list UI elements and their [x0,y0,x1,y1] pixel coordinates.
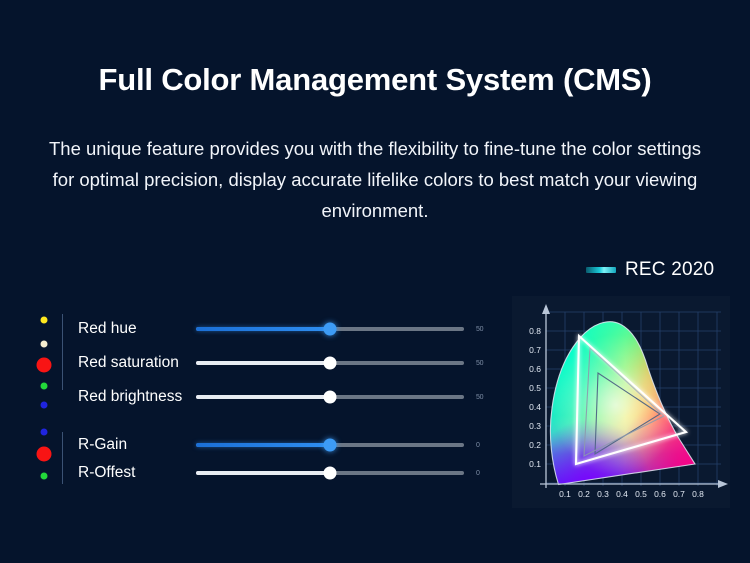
color-dot-rail [33,424,55,484]
slider-track-r-gain[interactable] [196,443,464,447]
svg-text:0.2: 0.2 [578,489,590,499]
svg-text:0.5: 0.5 [529,383,541,393]
slider-track-red-brightness[interactable] [196,395,464,399]
legend-swatch-icon [586,267,616,273]
slider-fill-red-brightness [196,395,330,399]
slider-thumb-r-offest[interactable] [324,467,337,480]
slider-row-red-brightness[interactable]: Red brightness 50 [62,385,505,409]
svg-text:0.4: 0.4 [529,402,541,412]
slider-row-red-saturation[interactable]: Red saturation 50 [62,351,505,375]
y-axis-arrow-icon [542,304,550,314]
green-dot [41,383,48,390]
svg-text:0.4: 0.4 [616,489,628,499]
color-settings-panel: Red hue 50 Red saturation 50 Red brightn… [0,306,505,496]
cream-dot [41,341,48,348]
slider-track-r-offest[interactable] [196,471,464,475]
svg-text:0.6: 0.6 [654,489,666,499]
slider-row-r-offest[interactable]: R-Offest 0 [62,461,505,485]
spectral-locus-fill [542,314,702,489]
slider-value-red-saturation: 50 [476,360,483,367]
slider-thumb-red-brightness[interactable] [324,391,337,404]
svg-text:0.3: 0.3 [597,489,609,499]
slider-fill-r-gain [196,443,330,447]
cie-chromaticity-diagram: 0.8 0.7 0.6 0.5 0.4 0.3 0.2 0.1 0.1 0.2 … [512,296,730,508]
color-dot-rail [33,306,55,398]
svg-text:0.2: 0.2 [529,440,541,450]
slider-label-red-saturation: Red saturation [78,354,179,372]
svg-text:0.8: 0.8 [529,326,541,336]
x-tick-labels: 0.1 0.2 0.3 0.4 0.5 0.6 0.7 0.8 [559,489,704,499]
slider-thumb-r-gain[interactable] [324,439,337,452]
slider-value-red-brightness: 50 [476,394,483,401]
svg-text:0.6: 0.6 [529,364,541,374]
slider-label-red-brightness: Red brightness [78,388,182,406]
legend-label-rec2020: REC 2020 [625,259,714,281]
slider-fill-r-offest [196,471,330,475]
blue-dot [41,402,48,409]
slider-fill-red-hue [196,327,330,331]
slider-value-red-hue: 50 [476,326,483,333]
y-tick-labels: 0.8 0.7 0.6 0.5 0.4 0.3 0.2 0.1 [529,326,541,469]
slider-label-red-hue: Red hue [78,320,137,338]
yellow-dot [41,317,48,324]
page-subtitle: The unique feature provides you with the… [48,133,702,226]
svg-text:0.7: 0.7 [529,345,541,355]
slider-track-red-saturation[interactable] [196,361,464,365]
svg-text:0.3: 0.3 [529,421,541,431]
svg-text:0.1: 0.1 [559,489,571,499]
slider-row-r-gain[interactable]: R-Gain 0 [62,433,505,457]
slider-row-red-hue[interactable]: Red hue 50 [62,317,505,341]
blue-dot [41,429,48,436]
slider-track-red-hue[interactable] [196,327,464,331]
svg-text:0.1: 0.1 [529,459,541,469]
slider-group-primary-color: Red hue 50 Red saturation 50 Red brightn… [0,306,505,398]
slider-group-gain-offset: R-Gain 0 R-Offest 0 [0,424,505,484]
slider-label-r-offest: R-Offest [78,464,135,482]
x-axis-arrow-icon [718,480,728,488]
red-dot [37,358,52,373]
slider-thumb-red-saturation[interactable] [324,357,337,370]
red-dot [37,447,52,462]
svg-text:0.7: 0.7 [673,489,685,499]
slider-fill-red-saturation [196,361,330,365]
svg-text:0.5: 0.5 [635,489,647,499]
chromaticity-svg: 0.8 0.7 0.6 0.5 0.4 0.3 0.2 0.1 0.1 0.2 … [512,296,730,508]
slider-value-r-gain: 0 [476,442,480,449]
slider-thumb-red-hue[interactable] [324,323,337,336]
green-dot [41,473,48,480]
svg-text:0.8: 0.8 [692,489,704,499]
slider-label-r-gain: R-Gain [78,436,127,454]
slider-value-r-offest: 0 [476,470,480,477]
chart-legend: REC 2020 [586,259,714,281]
page-title: Full Color Management System (CMS) [0,62,750,98]
